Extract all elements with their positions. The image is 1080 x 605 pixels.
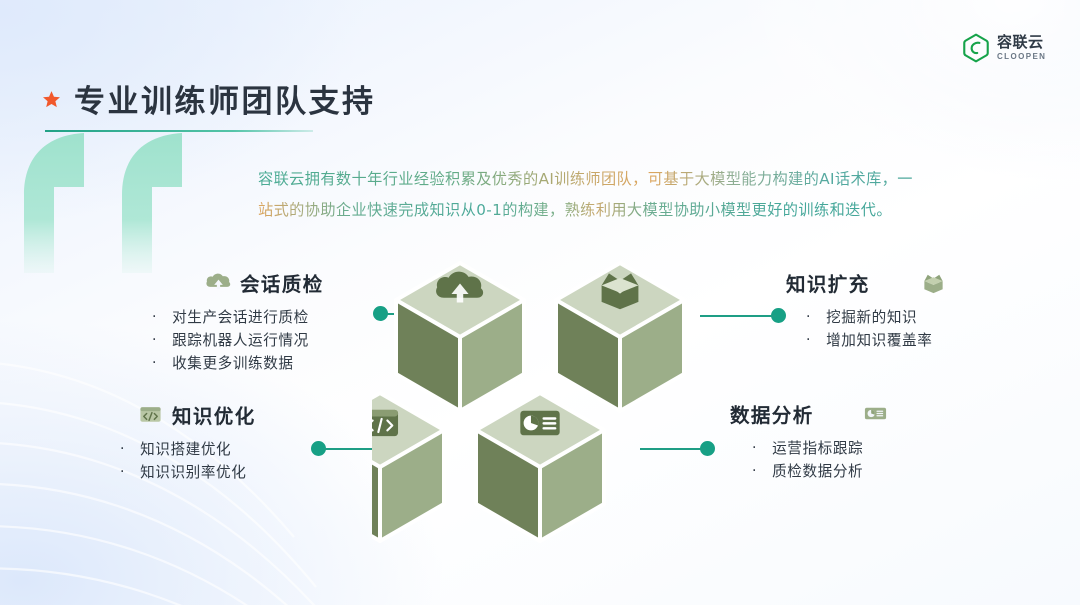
list-item: ·跟踪机器人运行情况 [152,329,324,352]
slide-canvas: 容联云 CLOOPEN 专业训练师团队支持 容联云拥有数十年行业经验积累及优秀的… [0,0,1080,605]
list-item: ·知识搭建优化 [120,438,256,461]
bullet-text: 对生产会话进行质检 [172,306,309,329]
report-chart-icon [863,401,888,426]
cube-optimize [372,393,444,541]
report-chart-icon [520,411,559,436]
code-window-icon [138,402,163,427]
feature-bullet-list: ·对生产会话进行质检 ·跟踪机器人运行情况 ·收集更多训练数据 [148,306,324,375]
logo-name-cn: 容联云 [997,35,1046,50]
list-item: ·对生产会话进行质检 [152,306,324,329]
cloud-upload-icon [206,270,231,295]
list-item: ·收集更多训练数据 [152,352,324,375]
feature-bullet-list: ·运营指标跟踪 ·质检数据分析 [730,437,888,483]
page-title-block: 专业训练师团队支持 [42,76,376,132]
quote-line-1: 容联云拥有数十年行业经验积累及优秀的AI训练师团队，可基于大模型能力构建的AI话… [258,164,1010,195]
cloopen-hexagon-logo-icon [962,33,990,63]
feature-data-analysis: 数据分析 ·运营指标跟踪 ·质检数据分析 [730,399,888,499]
code-window-icon [372,410,398,436]
feature-title: 知识扩充 [786,268,870,297]
feature-quality-inspection: 会话质检 ·对生产会话进行质检 ·跟踪机器人运行情况 ·收集更多训练数据 [148,268,324,391]
list-item: ·挖掘新的知识 [806,306,946,329]
open-box-icon [921,270,946,295]
bullet-text: 收集更多训练数据 [172,352,294,375]
star-icon [42,90,61,109]
list-item: ·增加知识覆盖率 [806,329,946,352]
cube-quality [396,263,524,411]
bullet-text: 增加知识覆盖率 [826,329,932,352]
brand-logo: 容联云 CLOOPEN [962,33,1046,63]
quote-paragraph: 容联云拥有数十年行业经验积累及优秀的AI训练师团队，可基于大模型能力构建的AI话… [258,164,1010,226]
bullet-text: 跟踪机器人运行情况 [172,329,309,352]
isometric-cube-cluster [372,243,708,545]
feature-knowledge-expansion: 知识扩充 ·挖掘新的知识 ·增加知识覆盖率 [786,268,946,368]
logo-name-en: CLOOPEN [997,53,1046,61]
bullet-text: 运营指标跟踪 [772,437,863,460]
cube-analysis [476,393,604,541]
feature-knowledge-optimization: 知识优化 ·知识搭建优化 ·知识识别率优化 [118,400,256,500]
feature-bullet-list: ·知识搭建优化 ·知识识别率优化 [118,438,256,484]
connector-line-expand [700,315,776,317]
feature-title: 数据分析 [730,399,814,428]
quote-line-2: 站式的协助企业快速完成知识从0-1的构建，熟练利用大模型协助小模型更好的训练和迭… [258,195,1010,226]
feature-title: 知识优化 [172,400,256,429]
page-title: 专业训练师团队支持 [74,76,376,121]
feature-title: 会话质检 [240,268,324,297]
list-item: ·知识识别率优化 [120,461,256,484]
title-underline [45,130,313,132]
bullet-text: 挖掘新的知识 [826,306,917,329]
bullet-text: 知识搭建优化 [140,438,231,461]
feature-bullet-list: ·挖掘新的知识 ·增加知识覆盖率 [786,306,946,352]
list-item: ·运营指标跟踪 [752,437,888,460]
bullet-text: 质检数据分析 [772,460,863,483]
bullet-text: 知识识别率优化 [140,461,246,484]
list-item: ·质检数据分析 [752,460,888,483]
cube-expand [556,263,684,411]
open-box-icon [602,273,639,309]
quote-mark-icon [18,133,194,273]
